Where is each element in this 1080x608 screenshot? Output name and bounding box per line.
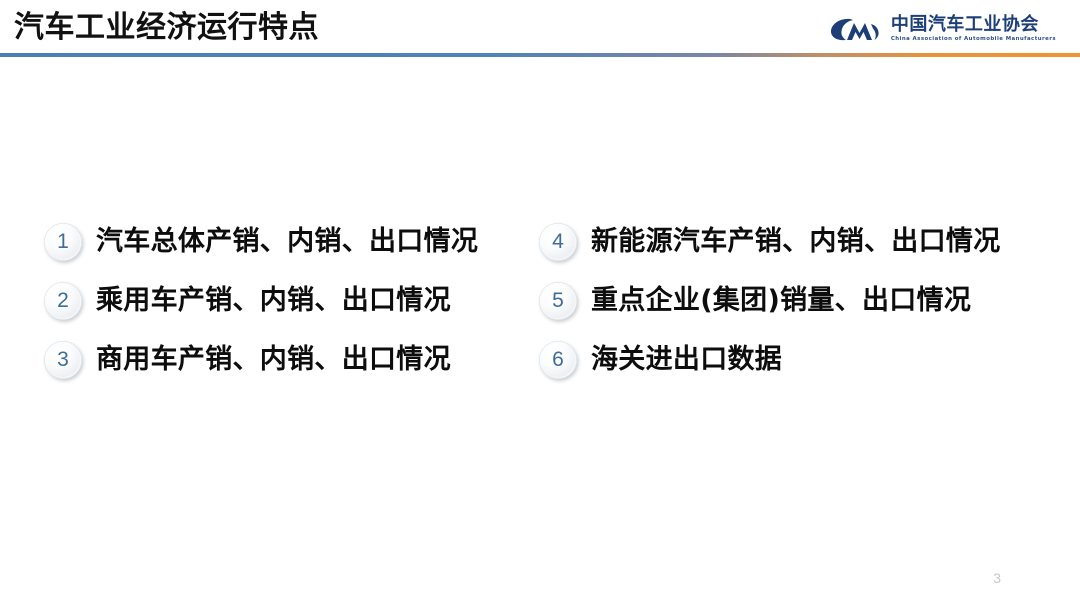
- list-item[interactable]: 2 乘用车产销、内销、出口情况: [44, 271, 539, 330]
- page-number: 3: [993, 569, 1001, 587]
- slide-header: 汽车工业经济运行特点 中国汽车工业协会 China Association of…: [0, 0, 1080, 58]
- brand-name-cn: 中国汽车工业协会: [891, 16, 1056, 34]
- list-item-label: 汽车总体产销、内销、出口情况: [96, 225, 478, 259]
- number-badge-icon: 4: [539, 223, 577, 261]
- list-item-label: 乘用车产销、内销、出口情况: [96, 284, 451, 318]
- number-badge-icon: 1: [44, 223, 82, 261]
- slide-canvas: { "header": { "title": "汽车工业经济运行特点", "ru…: [0, 0, 1080, 608]
- page-title: 汽车工业经济运行特点: [14, 9, 319, 47]
- list-item[interactable]: 4 新能源汽车产销、内销、出口情况: [539, 212, 1039, 271]
- number-badge-icon: 3: [44, 341, 82, 379]
- number-badge-icon: 6: [539, 341, 577, 379]
- brand-lockup: 中国汽车工业协会 China Association of Automobile…: [828, 10, 1056, 48]
- list-item-label: 商用车产销、内销、出口情况: [96, 343, 451, 377]
- list-item[interactable]: 1 汽车总体产销、内销、出口情况: [44, 212, 539, 271]
- brand-text: 中国汽车工业协会 China Association of Automobile…: [891, 16, 1056, 42]
- number-badge-icon: 2: [44, 282, 82, 320]
- agenda-column-left: 1 汽车总体产销、内销、出口情况 2 乘用车产销、内销、出口情况 3 商用车产销…: [44, 212, 539, 389]
- list-item[interactable]: 5 重点企业(集团)销量、出口情况: [539, 271, 1039, 330]
- brand-name-en: China Association of Automobile Manufact…: [891, 37, 1056, 43]
- list-item[interactable]: 3 商用车产销、内销、出口情况: [44, 330, 539, 389]
- number-badge-icon: 5: [539, 282, 577, 320]
- list-item-label: 海关进出口数据: [591, 343, 782, 377]
- agenda-list: 1 汽车总体产销、内销、出口情况 2 乘用车产销、内销、出口情况 3 商用车产销…: [0, 212, 1080, 389]
- list-item-label: 重点企业(集团)销量、出口情况: [591, 284, 971, 318]
- agenda-column-right: 4 新能源汽车产销、内销、出口情况 5 重点企业(集团)销量、出口情况 6 海关…: [539, 212, 1039, 389]
- header-gradient-divider: [0, 53, 1080, 57]
- list-item-label: 新能源汽车产销、内销、出口情况: [591, 225, 1001, 259]
- cm-monogram-logo-icon: [828, 14, 884, 44]
- list-item[interactable]: 6 海关进出口数据: [539, 330, 1039, 389]
